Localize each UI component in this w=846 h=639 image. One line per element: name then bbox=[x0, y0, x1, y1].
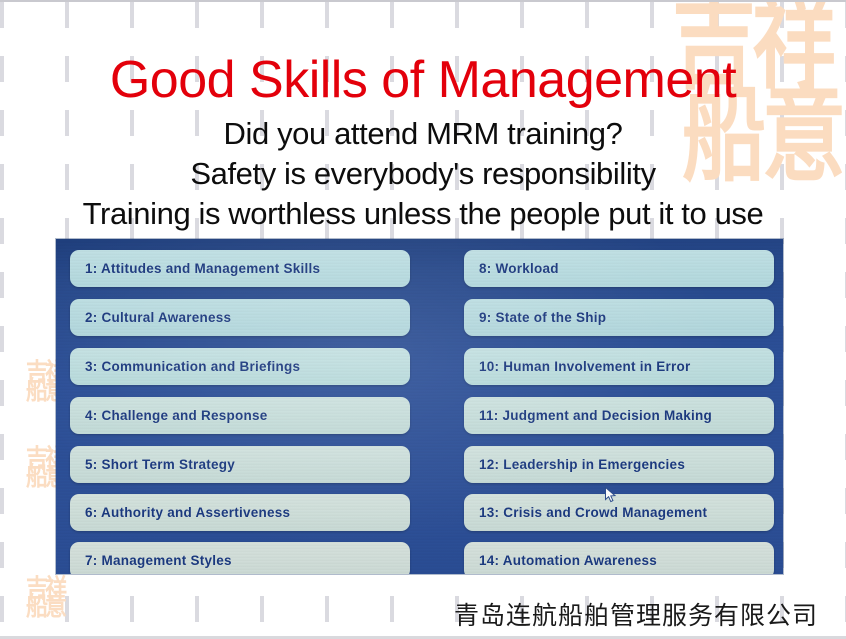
module-item: 6: Authority and Assertiveness bbox=[70, 494, 410, 531]
subtitle-line-1: Did you attend MRM training? bbox=[0, 114, 846, 154]
module-item: 12: Leadership in Emergencies bbox=[464, 446, 774, 483]
module-list-photo: 1: Attitudes and Management Skills 2: Cu… bbox=[56, 239, 783, 574]
module-item: 3: Communication and Briefings bbox=[70, 348, 410, 385]
module-item: 7: Management Styles bbox=[70, 542, 410, 574]
module-item: 14: Automation Awareness bbox=[464, 542, 774, 574]
subtitle-line-3: Training is worthless unless the people … bbox=[0, 194, 846, 234]
company-footer: 青岛连航船舶管理服务有限公司 bbox=[0, 596, 818, 632]
subtitle-line-2: Safety is everybody's responsibility bbox=[0, 154, 846, 194]
module-item: 5: Short Term Strategy bbox=[70, 446, 410, 483]
module-item: 4: Challenge and Response bbox=[70, 397, 410, 434]
module-item: 13: Crisis and Crowd Management bbox=[464, 494, 774, 531]
module-item: 1: Attitudes and Management Skills bbox=[70, 250, 410, 287]
subtitle-block: Did you attend MRM training? Safety is e… bbox=[0, 114, 846, 234]
module-item: 11: Judgment and Decision Making bbox=[464, 397, 774, 434]
presentation-slide: 吉祥船意 吉祥船意 吉祥船意 吉祥船意 Good Skills of Manag… bbox=[0, 0, 846, 639]
module-item: 10: Human Involvement in Error bbox=[464, 348, 774, 385]
module-item: 2: Cultural Awareness bbox=[70, 299, 410, 336]
module-item: 8: Workload bbox=[464, 250, 774, 287]
page-title: Good Skills of Management bbox=[0, 50, 846, 110]
module-item: 9: State of the Ship bbox=[464, 299, 774, 336]
